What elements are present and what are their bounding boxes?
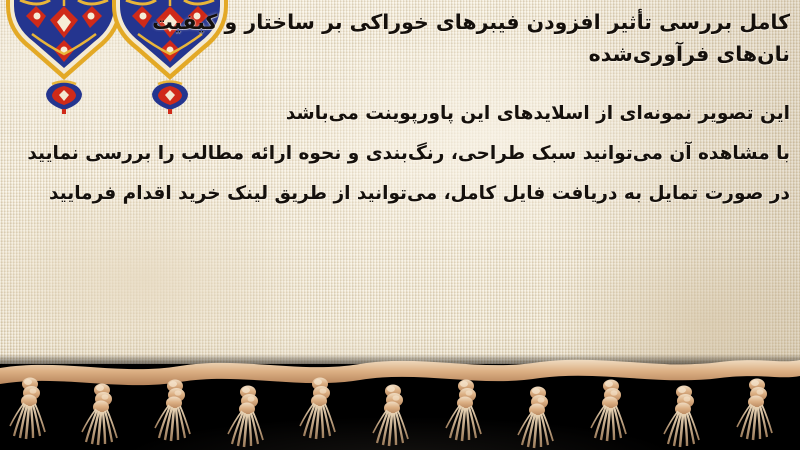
- fringe-tassels: [0, 346, 800, 450]
- slide-body-line-2: با مشاهده آن می‌توانید سبک طراحی، رنگ‌بن…: [10, 134, 790, 174]
- slide-title-line-2: نان‌های فرآوری‌شده: [10, 38, 790, 70]
- slide-body-text: این تصویر نمونه‌ای از اسلایدهای این پاور…: [10, 94, 790, 214]
- slide-body-line-1: این تصویر نمونه‌ای از اسلایدهای این پاور…: [10, 94, 790, 134]
- slide-title: کامل بررسی تأثیر افزودن فیبرهای خوراکی ب…: [10, 6, 790, 70]
- carpet-fringe-zone: [0, 346, 800, 450]
- slide-canvas: کامل بررسی تأثیر افزودن فیبرهای خوراکی ب…: [0, 0, 800, 450]
- slide-body-line-3: در صورت تمایل به دریافت فایل کامل، می‌تو…: [10, 174, 790, 214]
- slide-title-line-1: کامل بررسی تأثیر افزودن فیبرهای خوراکی ب…: [10, 6, 790, 38]
- slide-text-area: کامل بررسی تأثیر افزودن فیبرهای خوراکی ب…: [0, 0, 800, 214]
